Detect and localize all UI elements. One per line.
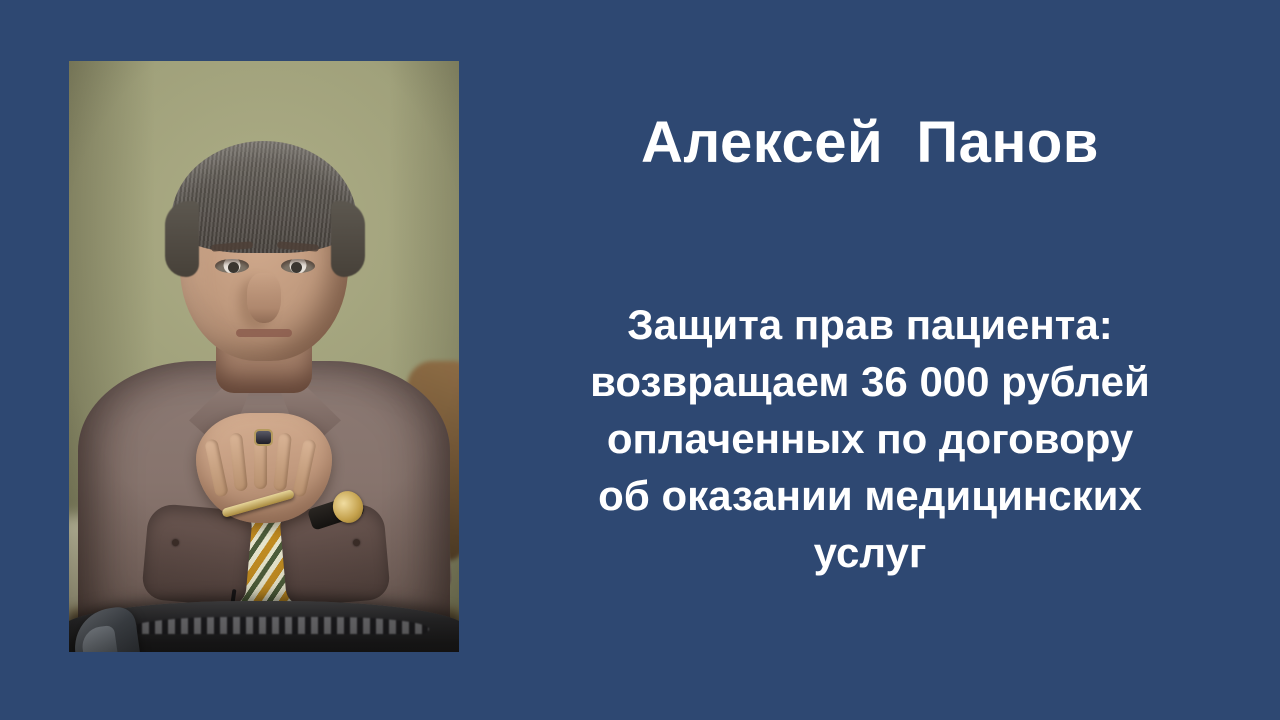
finger [292, 438, 317, 497]
hair-side-left [165, 201, 199, 277]
ring [256, 431, 271, 444]
portrait-photo [69, 61, 459, 652]
hair-side-right [331, 201, 365, 277]
pupil-left [228, 262, 239, 273]
nose [247, 273, 281, 323]
slide-subtitle: Защита прав пациента: возвращаем 36 000 … [530, 296, 1210, 581]
subtitle-line: оплаченных по договору [530, 410, 1210, 467]
subtitle-line: об оказании медицинских [530, 467, 1210, 524]
photo-content [69, 61, 459, 652]
subtitle-line: услуг [530, 524, 1210, 581]
subtitle-line: возвращаем 36 000 рублей [530, 353, 1210, 410]
cuff-button-right [353, 539, 361, 547]
cuff-button-left [172, 539, 180, 547]
finger [204, 438, 229, 497]
finger [273, 432, 292, 491]
subtitle-line: Защита прав пациента: [530, 296, 1210, 353]
pupil-right [291, 262, 302, 273]
finger [229, 432, 248, 491]
keyboard-keys [129, 617, 429, 634]
text-column: Алексей Панов Защита прав пациента: возв… [500, 0, 1240, 720]
speaker-name-title: Алексей Панов [500, 112, 1240, 175]
slide-canvas: Алексей Панов Защита прав пациента: возв… [0, 0, 1280, 720]
mouth [236, 329, 292, 337]
